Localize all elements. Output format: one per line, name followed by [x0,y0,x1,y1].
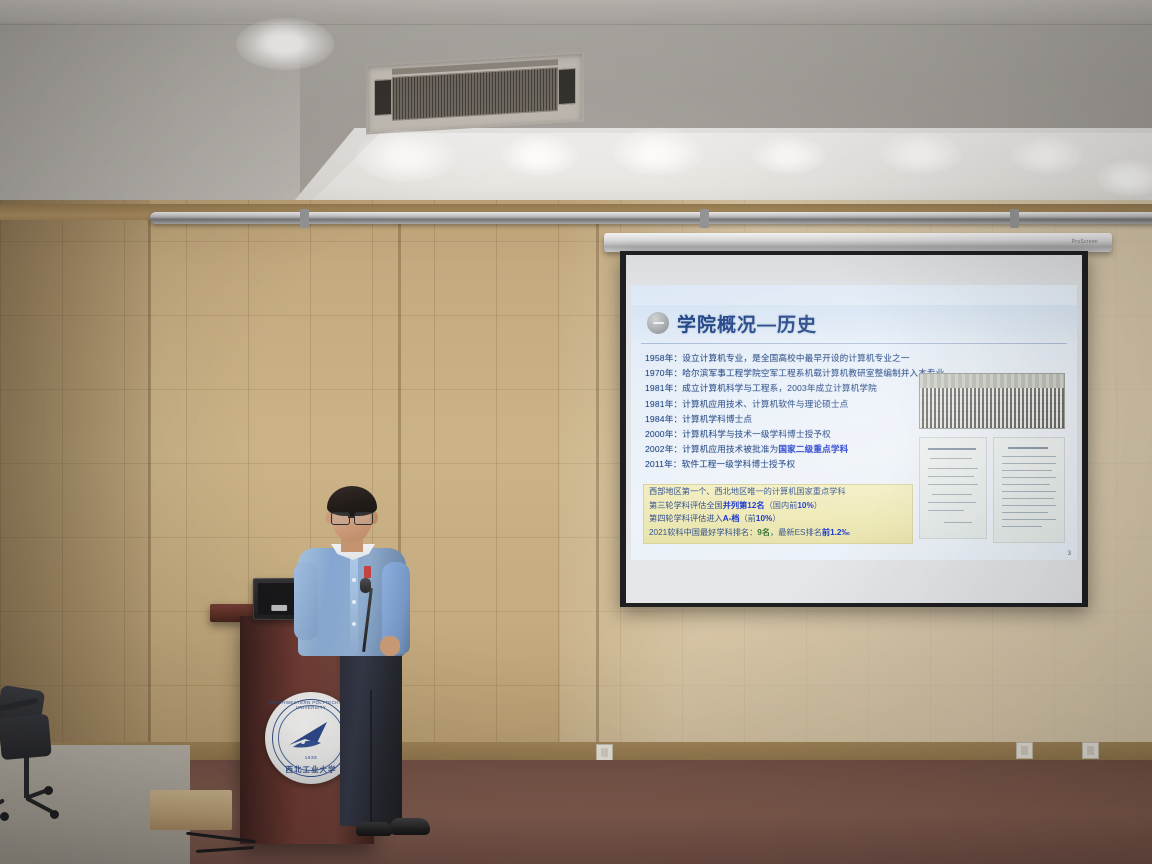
slide-highlight-box: 西部地区第一个、西北地区唯一的计算机国家重点学科 第三轮学科评估全国并列第12名… [643,484,913,544]
ceiling-downlight-core [268,36,294,45]
shirt-button [352,578,356,582]
timeline-item: 1984年：计算机学科博士点 [645,412,911,427]
rail-bracket [1010,209,1019,228]
timeline-item: 1981年：成立计算机科学与工程系，2003年成立计算机学院 [645,381,911,396]
rail-bracket [300,209,309,228]
screen-brand-label: ProScreen [1072,239,1098,245]
microphone-icon [360,578,371,593]
photo-scene: ProScreen 学院概况—历史 1958年：设立计算机专业，是全国高校中最早… [0,0,1152,864]
highlight-item: 第三轮学科评估全国并列第12名（国内前10%） [644,499,912,513]
laptop-key-reflection [271,605,287,611]
wall-seam [596,208,599,762]
slide-timeline-list: 1958年：设立计算机专业，是全国高校中最早开设的计算机专业之一 1970年：哈… [645,351,911,473]
presentation-slide: 学院概况—历史 1958年：设立计算机专业，是全国高校中最早开设的计算机专业之一… [631,285,1077,560]
glasses-bridge [348,516,354,518]
speaker-shoe-left [356,822,392,836]
photo-crowd-rows [920,388,1064,428]
ceiling-downlight-core [782,150,794,156]
vent-side-left [374,79,392,116]
timeline-item: 2002年：计算机应用技术被批准为国家二级重点学科 [645,442,911,457]
ceiling-downlight-core [1122,174,1133,180]
office-chair-post [24,752,29,798]
rail-bracket [700,209,709,228]
glasses-lens-right-icon [354,512,373,525]
highlight-item: 第四轮学科评估进入A-档（前10%） [644,512,912,526]
vent-grill [392,67,558,121]
slide-title-divider [641,343,1067,344]
speaker-lanyard-badge [364,566,371,578]
projection-screen-housing: ProScreen [604,233,1112,252]
shirt-button [352,622,356,626]
glasses-lens-left-icon [331,512,350,525]
wall-shadow-left [0,200,150,760]
low-cabinet [150,790,232,830]
archival-document-right [993,437,1065,543]
office-chair-wheel [50,810,59,819]
slide-title: 学院概况—历史 [677,310,817,337]
shirt-button [352,600,356,604]
ceiling-downlight-core [1040,151,1052,157]
timeline-item: 1970年：哈尔滨军事工程学院空军工程系机载计算机教研室整编制并入本专业 [645,366,911,381]
ceiling-downlight [356,130,456,182]
speaker-shirt-placket [350,556,358,652]
emblem-bird-icon [287,719,335,753]
highlight-item: 2021软科中国最好学科排名：9名，最新ES排名前1.2‰ [644,526,912,540]
vent-side-right [558,68,576,105]
speaker-shoe-right [390,818,430,835]
ceiling-downlight-core [392,148,412,156]
wall-outlet [1082,742,1099,759]
wall-seam [148,208,151,762]
speaker-leg-seam [370,690,372,822]
ceiling-downlight-core [530,150,543,157]
speaker-hand-right [380,636,400,656]
timeline-item: 1981年：计算机应用技术、计算机软件与理论硕士点 [645,397,911,412]
ceiling-downlight-core [646,146,664,154]
highlight-item: 西部地区第一个、西北地区唯一的计算机国家重点学科 [644,485,912,499]
historical-group-photo [919,373,1065,429]
ceiling-top-strip [0,0,1152,22]
timeline-item: 1958年：设立计算机专业，是全国高校中最早开设的计算机专业之一 [645,351,911,366]
air-conditioner-vent-icon [366,52,584,135]
timeline-item: 2011年：软件工程一级学科博士授予权 [645,457,911,472]
slide-page-number: 3 [1068,551,1071,557]
archival-document-left [919,437,987,539]
ceiling-seam [0,24,1152,25]
timeline-item: 2000年：计算机科学与技术一级学科博士授予权 [645,427,911,442]
wall-outlet [596,744,613,761]
office-chair-wheel [44,786,53,795]
photo-building-row [920,374,1064,388]
ceiling-downlight-core [913,148,927,155]
office-chair-wheel [0,812,9,821]
wall-outlet [1016,742,1033,759]
slide-bullet-icon [647,312,669,334]
speaker-arm-left [294,562,318,640]
